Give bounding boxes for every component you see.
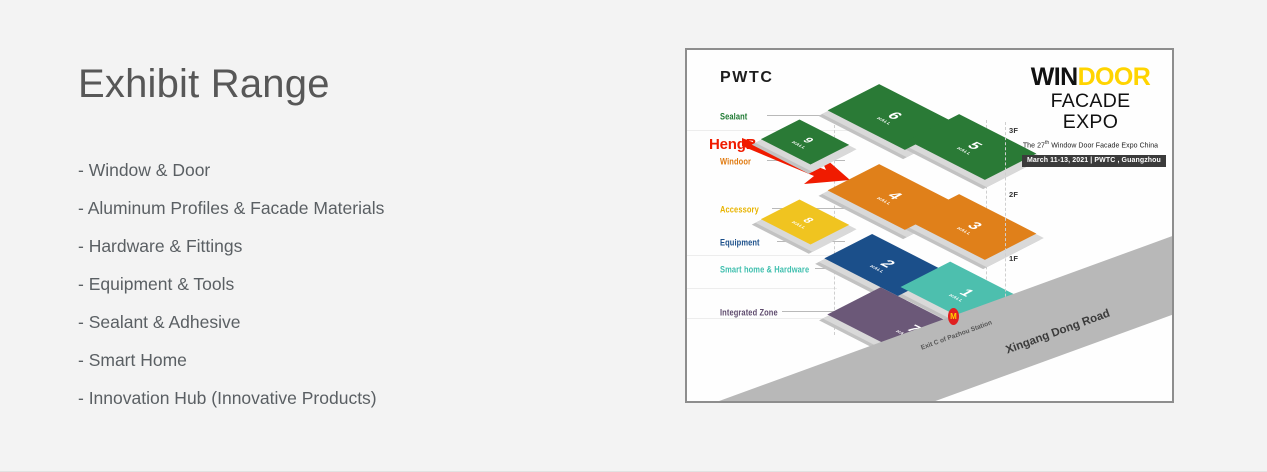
floor-label-2f: 2F bbox=[1009, 190, 1018, 199]
floor-label-1f: 1F bbox=[1009, 254, 1018, 263]
hall-number: 5 bbox=[964, 140, 985, 151]
list-item: - Innovation Hub (Innovative Products) bbox=[78, 390, 638, 408]
hall-number: 9 bbox=[800, 137, 816, 145]
floorplan-card: PWTC Sealant Windoor Accessory Equipment… bbox=[685, 48, 1174, 403]
windoor-logo: WINDOOR FACADE EXPO The 27th Window Door… bbox=[1022, 65, 1159, 167]
logo-tagline-post: Window Door Facade Expo China bbox=[1049, 142, 1158, 149]
exhibit-range-list: - Window & Door - Aluminum Profiles & Fa… bbox=[78, 162, 638, 408]
hall-number: 2 bbox=[877, 258, 898, 269]
logo-tagline-pre: The 27 bbox=[1023, 142, 1045, 149]
list-item: - Sealant & Adhesive bbox=[78, 314, 638, 332]
hall-number: 3 bbox=[964, 220, 985, 231]
logo-date-venue-bar: March 11-13, 2021 | PWTC , Guangzhou bbox=[1022, 155, 1166, 167]
list-item: - Hardware & Fittings bbox=[78, 238, 638, 256]
logo-subtitle: FACADE EXPO bbox=[1022, 91, 1159, 134]
hall-number: 8 bbox=[800, 217, 816, 225]
page-title: Exhibit Range bbox=[78, 62, 638, 106]
list-item: - Smart Home bbox=[78, 352, 638, 370]
logo-wordmark: WINDOOR bbox=[1022, 65, 1159, 90]
metro-station-marker-icon: M bbox=[948, 308, 959, 325]
hall-number: 4 bbox=[884, 190, 905, 201]
hall-number: 6 bbox=[884, 110, 905, 121]
floor-label-3f: 3F bbox=[1009, 126, 1018, 135]
floorplan-canvas: PWTC Sealant Windoor Accessory Equipment… bbox=[687, 50, 1172, 401]
list-item: - Aluminum Profiles & Facade Materials bbox=[78, 200, 638, 218]
logo-win-text: WIN bbox=[1031, 63, 1078, 91]
slide-text-column: Exhibit Range - Window & Door - Aluminum… bbox=[78, 62, 638, 428]
logo-door-text: DOOR bbox=[1078, 63, 1151, 91]
list-item: - Equipment & Tools bbox=[78, 276, 638, 294]
list-item: - Window & Door bbox=[78, 162, 638, 180]
logo-tagline: The 27th Window Door Facade Expo China bbox=[1022, 140, 1159, 149]
hall-number: 1 bbox=[956, 287, 977, 298]
